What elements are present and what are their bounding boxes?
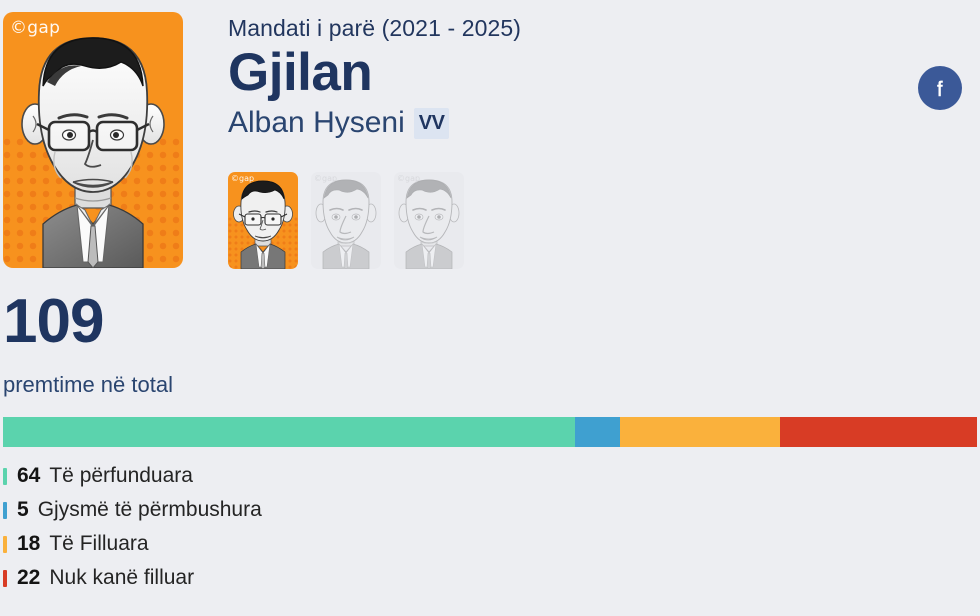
mayor-portrait-card: ©gap (3, 12, 183, 268)
facebook-share-button[interactable] (918, 66, 962, 110)
mayor-thumb-2[interactable]: ©gap (311, 172, 381, 269)
bar-segment-half-done[interactable] (575, 417, 620, 447)
legend-count: 5 (17, 498, 29, 522)
mayor-thumb-3-illustration (394, 172, 464, 269)
facebook-icon (929, 77, 951, 99)
mandate-label: Mandati i parë (2021 - 2025) (228, 14, 848, 42)
mayor-thumbnail-list[interactable]: ©gap (228, 172, 464, 269)
legend-item-half-done[interactable]: 5 Gjysmë të përmbushura (3, 493, 603, 527)
legend-item-completed[interactable]: 64 Të përfunduara (3, 459, 603, 493)
header-block: Mandati i parë (2021 - 2025) Gjilan Alba… (228, 14, 848, 141)
legend-bullet-icon (3, 570, 7, 587)
legend-item-not-started[interactable]: 22 Nuk kanë filluar (3, 561, 603, 595)
mayor-thumb-1[interactable]: ©gap (228, 172, 298, 269)
mayor-caricature-illustration (3, 12, 183, 268)
bar-segment-started[interactable] (620, 417, 781, 447)
legend-count: 18 (17, 532, 40, 556)
gap-watermark-thumb: ©gap (314, 174, 337, 183)
page-title: Gjilan (228, 43, 848, 103)
gap-watermark: ©gap (10, 18, 60, 38)
party-badge: VV (414, 108, 450, 139)
mayor-row: Alban Hyseni VV (228, 105, 848, 141)
legend-bullet-icon (3, 468, 7, 485)
mayor-thumb-2-illustration (311, 172, 381, 269)
promise-tracker-page: ©gap Mandati i parë (2021 - 2025) Gjilan… (0, 0, 980, 616)
gap-watermark-thumb: ©gap (231, 174, 254, 183)
legend-label: Të përfunduara (49, 464, 193, 488)
total-promises-count: 109 (3, 288, 103, 356)
legend-count: 64 (17, 464, 40, 488)
legend-label: Nuk kanë filluar (49, 566, 194, 590)
legend-label: Të Filluara (49, 532, 148, 556)
bar-segment-completed[interactable] (3, 417, 575, 447)
bar-segment-not-started[interactable] (780, 417, 977, 447)
mayor-thumb-1-illustration (228, 172, 298, 269)
legend-bullet-icon (3, 502, 7, 519)
mayor-name: Alban Hyseni (228, 105, 405, 141)
legend-bullet-icon (3, 536, 7, 553)
legend-label: Gjysmë të përmbushura (38, 498, 262, 522)
legend-count: 22 (17, 566, 40, 590)
total-promises-label: premtime në total (3, 370, 173, 400)
promise-status-legend: 64 Të përfunduara 5 Gjysmë të përmbushur… (3, 459, 603, 595)
mayor-thumb-3[interactable]: ©gap (394, 172, 464, 269)
gap-watermark-thumb: ©gap (397, 174, 420, 183)
legend-item-started[interactable]: 18 Të Filluara (3, 527, 603, 561)
promise-progress-bar (3, 417, 977, 447)
